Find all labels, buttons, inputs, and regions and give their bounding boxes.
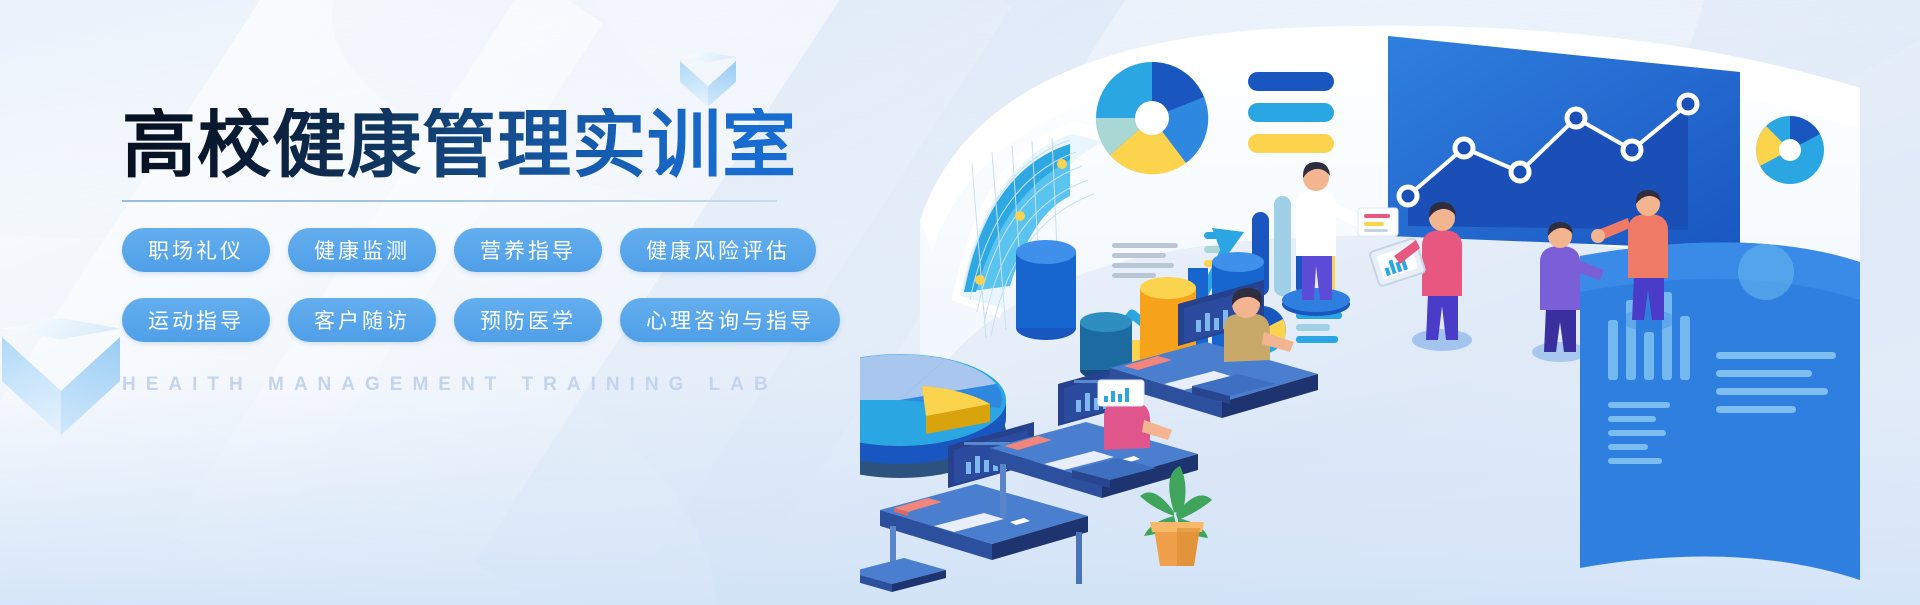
page-title: 高校健康管理实训室 bbox=[122, 108, 882, 182]
tag-row-1: 职场礼仪 健康监测 营养指导 健康风险评估 bbox=[122, 228, 882, 272]
tag-chip[interactable]: 健康监测 bbox=[288, 228, 436, 272]
card-placeholder bbox=[1358, 208, 1398, 236]
hero-content: 高校健康管理实训室 职场礼仪 健康监测 营养指导 健康风险评估 运动指导 客户随… bbox=[122, 108, 882, 396]
title-divider bbox=[122, 200, 777, 202]
tag-row-2: 运动指导 客户随访 预防医学 心理咨询与指导 bbox=[122, 298, 882, 342]
cube-bottom-left-icon bbox=[2, 318, 120, 448]
tag-chip[interactable]: 客户随访 bbox=[288, 298, 436, 342]
curved-screen-right bbox=[1580, 242, 1860, 580]
bar-chart bbox=[1248, 72, 1334, 153]
tag-chip[interactable]: 职场礼仪 bbox=[122, 228, 270, 272]
pie-chart-donut bbox=[1096, 62, 1208, 174]
page-subtitle: HEAITH MANAGEMENT TRAINING LAB bbox=[122, 374, 882, 396]
card-placeholder bbox=[1098, 380, 1144, 406]
tag-chip[interactable]: 预防医学 bbox=[454, 298, 602, 342]
tag-chip[interactable]: 心理咨询与指导 bbox=[620, 298, 840, 342]
banner: 高校健康管理实训室 职场礼仪 健康监测 营养指导 健康风险评估 运动指导 客户随… bbox=[0, 0, 1920, 605]
office-chair bbox=[860, 558, 946, 592]
pie-chart-donut bbox=[1756, 116, 1824, 184]
legend-lines bbox=[1296, 312, 1342, 343]
tag-chip[interactable]: 运动指导 bbox=[122, 298, 270, 342]
illustration bbox=[860, 0, 1920, 605]
tag-chip[interactable]: 健康风险评估 bbox=[620, 228, 816, 272]
tag-chip[interactable]: 营养指导 bbox=[454, 228, 602, 272]
